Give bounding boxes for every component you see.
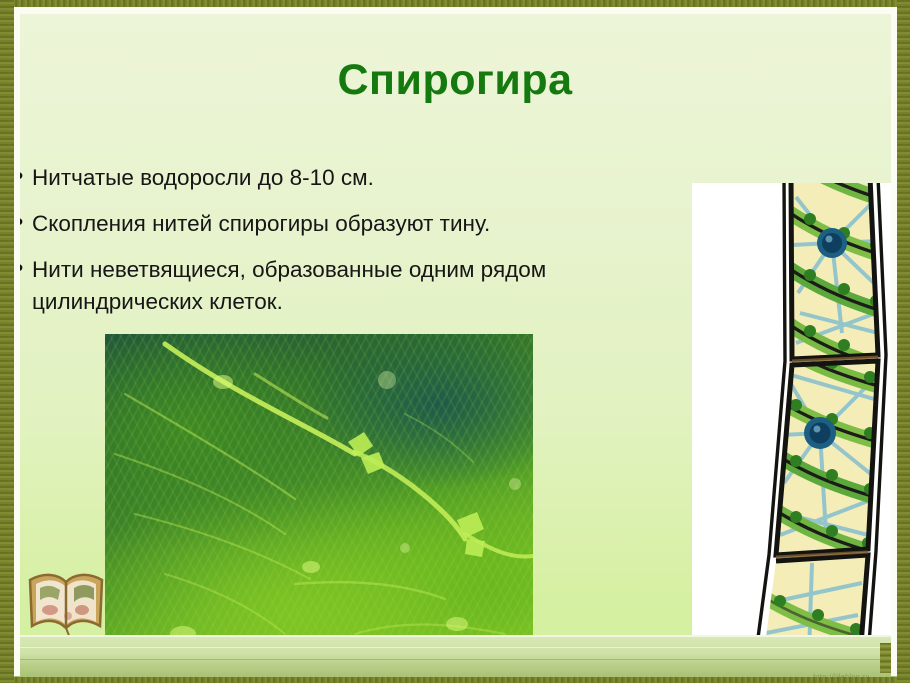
bullet-text: Скопления нитей спирогиры образуют тину.	[32, 208, 678, 240]
open-book-icon	[24, 558, 108, 642]
open-book-decoration	[24, 558, 108, 642]
footer-rule	[14, 647, 897, 648]
frame-border-right	[897, 0, 910, 683]
bullet-text: Нитчатые водоросли до 8-10 см.	[32, 162, 678, 194]
frame-inner-line-left	[14, 7, 20, 676]
footer-rule	[14, 659, 897, 660]
frame-border-left	[0, 0, 14, 683]
frame-border-bottom	[0, 677, 910, 683]
list-item: • Нити неветвящиеся, образованные одним …	[6, 254, 678, 318]
bullet-list: • Нитчатые водоросли до 8-10 см. • Скопл…	[6, 162, 678, 332]
spirogyra-cell-illustration	[692, 183, 897, 670]
nucleus	[817, 228, 847, 258]
frame-inner-line-right	[891, 7, 897, 676]
presentation-slide: Спирогира • Нитчатые водоросли до 8-10 с…	[0, 0, 910, 683]
slide-footer-band	[14, 635, 897, 677]
nucleus	[804, 417, 836, 449]
frame-inner-line-top	[14, 7, 897, 14]
slide-title: Спирогира	[0, 56, 910, 105]
bullet-text: Нити неветвящиеся, образованные одним ря…	[32, 254, 678, 318]
algae-photograph	[105, 334, 533, 654]
frame-border-top	[0, 0, 910, 7]
list-item: • Нитчатые водоросли до 8-10 см.	[6, 162, 678, 194]
spirogyra-diagram	[692, 183, 897, 670]
photo-strand-overlay	[105, 334, 533, 654]
list-item: • Скопления нитей спирогиры образуют тин…	[6, 208, 678, 240]
